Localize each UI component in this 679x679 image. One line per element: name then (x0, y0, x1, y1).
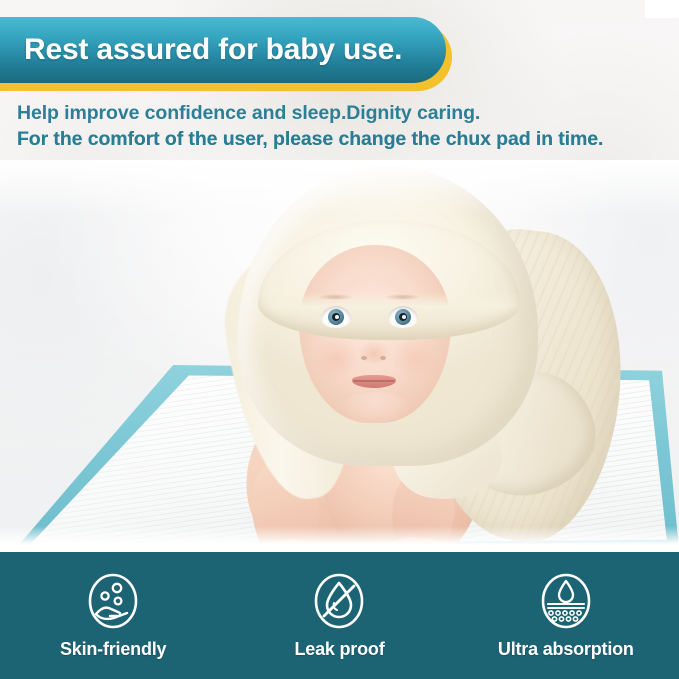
baby-left-eye-glint (335, 315, 339, 319)
baby-right-pupil (399, 313, 407, 321)
baby-right-cheek (392, 338, 440, 380)
baby-left-brow (318, 294, 352, 300)
baby-left-eye (321, 306, 351, 328)
baby-left-cheek (312, 338, 360, 380)
feature-label-leak-proof: Leak proof (294, 639, 384, 660)
banner-title: Rest assured for baby use. (0, 33, 402, 67)
leak-proof-icon (311, 571, 367, 631)
subtitle-line-2: For the comfort of the user, please chan… (17, 126, 667, 152)
baby-mouth-line (353, 380, 395, 382)
hero-photo (0, 160, 679, 552)
banner-pill: Rest assured for baby use. (0, 17, 446, 83)
baby-chin (340, 392, 410, 426)
product-feature-image: Rest assured for baby use. Help improve … (0, 0, 679, 679)
baby-left-iris (328, 309, 344, 325)
baby-right-iris (395, 309, 411, 325)
baby-right-brow (386, 294, 420, 300)
feature-item-leak-proof: Leak proof (226, 552, 452, 660)
ultra-absorption-icon (538, 571, 594, 631)
header-banner: Rest assured for baby use. (0, 17, 452, 85)
subtitle-block: Help improve confidence and sleep.Dignit… (17, 100, 667, 152)
skin-friendly-icon (85, 571, 141, 631)
baby-left-nostril (361, 356, 367, 360)
feature-bar: Skin-friendly Leak proof (0, 552, 679, 679)
feature-item-skin-friendly: Skin-friendly (0, 552, 226, 660)
baby-right-eye (388, 306, 418, 328)
baby-right-eye-glint (402, 315, 406, 319)
feature-item-ultra-absorption: Ultra absorption (453, 552, 679, 660)
feature-label-skin-friendly: Skin-friendly (60, 639, 166, 660)
photo-top-fade (0, 160, 679, 216)
photo-bottom-fade (0, 526, 679, 552)
top-right-white-notch (645, 0, 679, 18)
feature-label-ultra-absorption: Ultra absorption (498, 639, 634, 660)
baby-left-pupil (332, 313, 340, 321)
baby-right-nostril (380, 356, 386, 360)
subtitle-line-1: Help improve confidence and sleep.Dignit… (17, 100, 667, 126)
